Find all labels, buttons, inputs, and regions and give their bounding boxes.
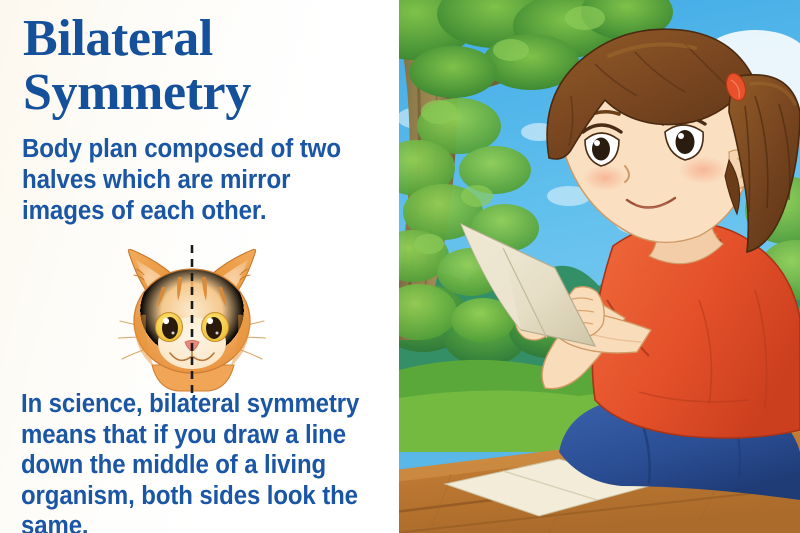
page-title-line-1: Bilateral xyxy=(23,12,383,66)
page-title-line-2: Symmetry xyxy=(23,66,383,120)
left-text-panel: Bilateral Symmetry Body plan composed of… xyxy=(0,0,399,533)
cat-symmetry-figure xyxy=(118,243,266,395)
girl-cheek-left xyxy=(583,165,627,191)
page-title: Bilateral Symmetry xyxy=(23,12,383,120)
girl-reading-illustration xyxy=(399,0,800,533)
bilateral-symmetry-slide: Bilateral Symmetry Body plan composed of… xyxy=(0,0,800,533)
intro-paragraph: Body plan composed of two halves which a… xyxy=(22,134,374,227)
cat-right-eye xyxy=(202,313,229,342)
definition-paragraph: In science, bilateral symmetry means tha… xyxy=(21,389,380,533)
cat-left-eye xyxy=(156,313,183,342)
